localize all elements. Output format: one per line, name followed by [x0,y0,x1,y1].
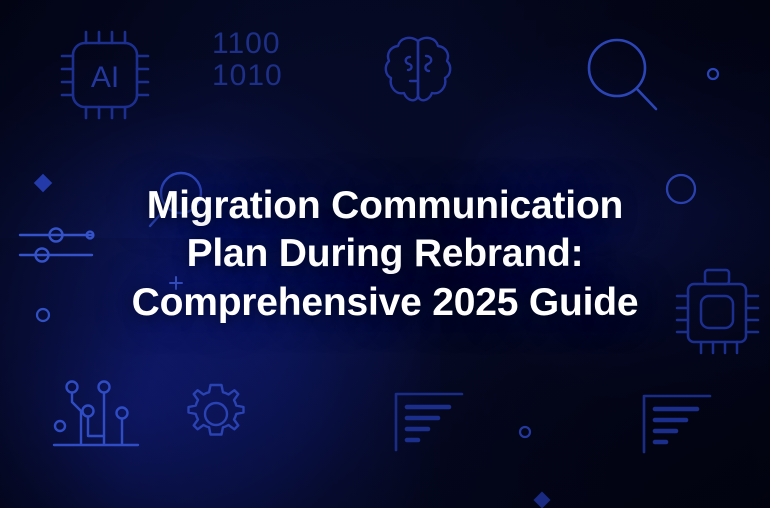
hero-banner: AI 1100 1010 [0,0,770,508]
page-title: Migration Communication Plan During Rebr… [105,182,665,327]
hero-title-container: Migration Communication Plan During Rebr… [0,182,770,327]
